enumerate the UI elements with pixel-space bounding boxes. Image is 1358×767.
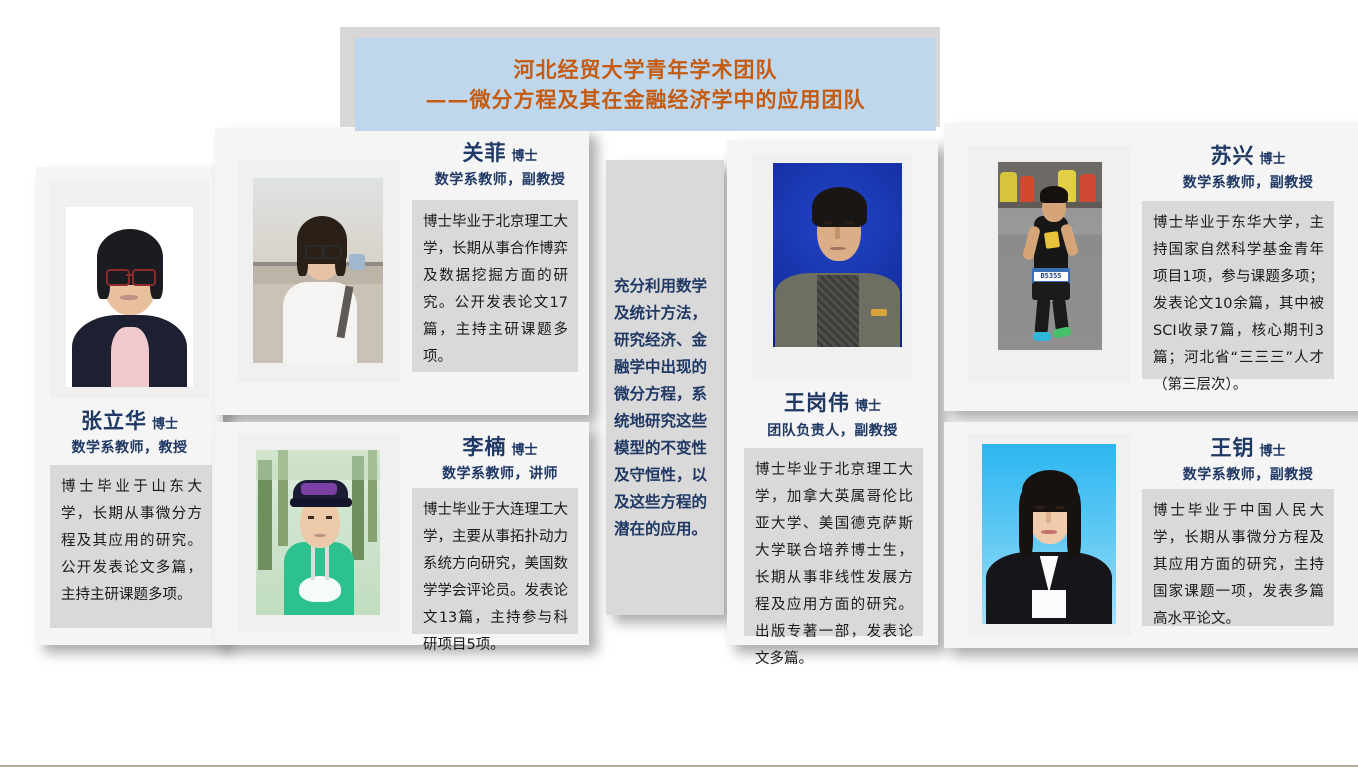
member-degree: 博士 [855,399,881,414]
photo-frame: B5355 [968,146,1131,383]
member-bio: 博士毕业于大连理工大学，主要从事拓扑动力系统方向研究，美国数学学会评论员。发表论… [412,488,578,634]
member-photo-wang-gang-wei [773,163,902,347]
photo-frame [752,153,912,380]
member-card-su-xing[interactable]: B5355 苏兴博士 数学系教师，副教授 博士毕业于东华大学，主持国家自然科学基… [944,123,1358,411]
member-photo-su-xing: B5355 [998,162,1102,350]
member-name-row: 李楠博士 [411,431,589,461]
member-degree: 博士 [1259,444,1285,459]
team-statement-text: 充分利用数学及统计方法，研究经济、金融学中出现的微分方程，系统地研究这些模型的不… [614,272,716,542]
member-name-row: 王岗伟博士 [727,387,938,417]
member-role: 数学系教师，讲师 [411,463,589,483]
member-name: 张立华 [81,408,147,433]
member-bio: 博士毕业于北京理工大学，加拿大英属哥伦比亚大学、美国德克萨斯大学联合培养博士生，… [744,448,923,636]
member-bio: 博士毕业于北京理工大学，长期从事合作博弈及数据挖掘方面的研究。公开发表论文17篇… [412,200,578,372]
photo-frame [968,434,1131,636]
title-banner: 河北经贸大学青年学术团队 ——微分方程及其在金融经济学中的应用团队 [355,38,936,131]
member-name: 李楠 [462,434,506,459]
member-role: 数学系教师，副教授 [411,169,589,189]
member-role: 数学系教师，教授 [36,437,223,457]
member-role: 数学系教师，副教授 [1144,464,1352,484]
member-bio: 博士毕业于东华大学，主持国家自然科学基金青年项目1项，参与课题多项；发表论文10… [1142,201,1334,379]
member-bio: 博士毕业于中国人民大学，长期从事微分方程及其应用方面的研究，主持国家课题一项，发… [1142,489,1334,626]
title-line-1: 河北经贸大学青年学术团队 [514,55,778,85]
member-name: 苏兴 [1210,143,1254,168]
member-card-guan-fei[interactable]: 关菲博士 数学系教师，副教授 博士毕业于北京理工大学，长期从事合作博弈及数据挖掘… [215,128,589,415]
member-name: 王岗伟 [784,390,850,415]
member-name-row: 张立华博士 [36,405,223,435]
member-name-row: 苏兴博士 [1144,140,1352,170]
member-degree: 博士 [152,417,178,432]
member-degree: 博士 [511,443,537,458]
photo-frame [237,160,400,382]
member-name-row: 关菲博士 [411,137,589,167]
member-photo-zhang-li-hua [66,207,193,387]
member-card-li-nan[interactable]: 李楠博士 数学系教师，讲师 博士毕业于大连理工大学，主要从事拓扑动力系统方向研究… [215,422,589,645]
member-name: 关菲 [462,140,506,165]
member-name: 王钥 [1210,435,1254,460]
member-card-zhang-li-hua[interactable]: 张立华博士 数学系教师，教授 博士毕业于山东大学，长期从事微分方程及其应用的研究… [36,167,223,645]
member-photo-wang-yue [982,444,1116,624]
member-degree: 博士 [1259,152,1285,167]
member-photo-guan-fei [253,178,383,363]
title-line-2: ——微分方程及其在金融经济学中的应用团队 [426,85,866,115]
member-card-wang-yue[interactable]: 王钥博士 数学系教师，副教授 博士毕业于中国人民大学，长期从事微分方程及其应用方… [944,422,1358,648]
race-bib-number: B5355 [1034,272,1068,281]
team-statement-panel: 充分利用数学及统计方法，研究经济、金融学中出现的微分方程，系统地研究这些模型的不… [606,160,724,615]
member-degree: 博士 [511,149,537,164]
member-bio: 博士毕业于山东大学，长期从事微分方程及其应用的研究。公开发表论文多篇，主持主研课… [50,465,212,628]
member-card-wang-gang-wei[interactable]: 王岗伟博士 团队负责人，副教授 博士毕业于北京理工大学，加拿大英属哥伦比亚大学、… [727,140,938,645]
member-role: 团队负责人，副教授 [727,420,938,440]
photo-frame [50,181,210,398]
slide-canvas: 张立华博士 数学系教师，教授 博士毕业于山东大学，长期从事微分方程及其应用的研究… [0,0,1358,767]
member-photo-li-nan [256,450,380,615]
member-role: 数学系教师，副教授 [1144,172,1352,192]
member-name-row: 王钥博士 [1144,432,1352,462]
photo-frame [237,433,400,632]
